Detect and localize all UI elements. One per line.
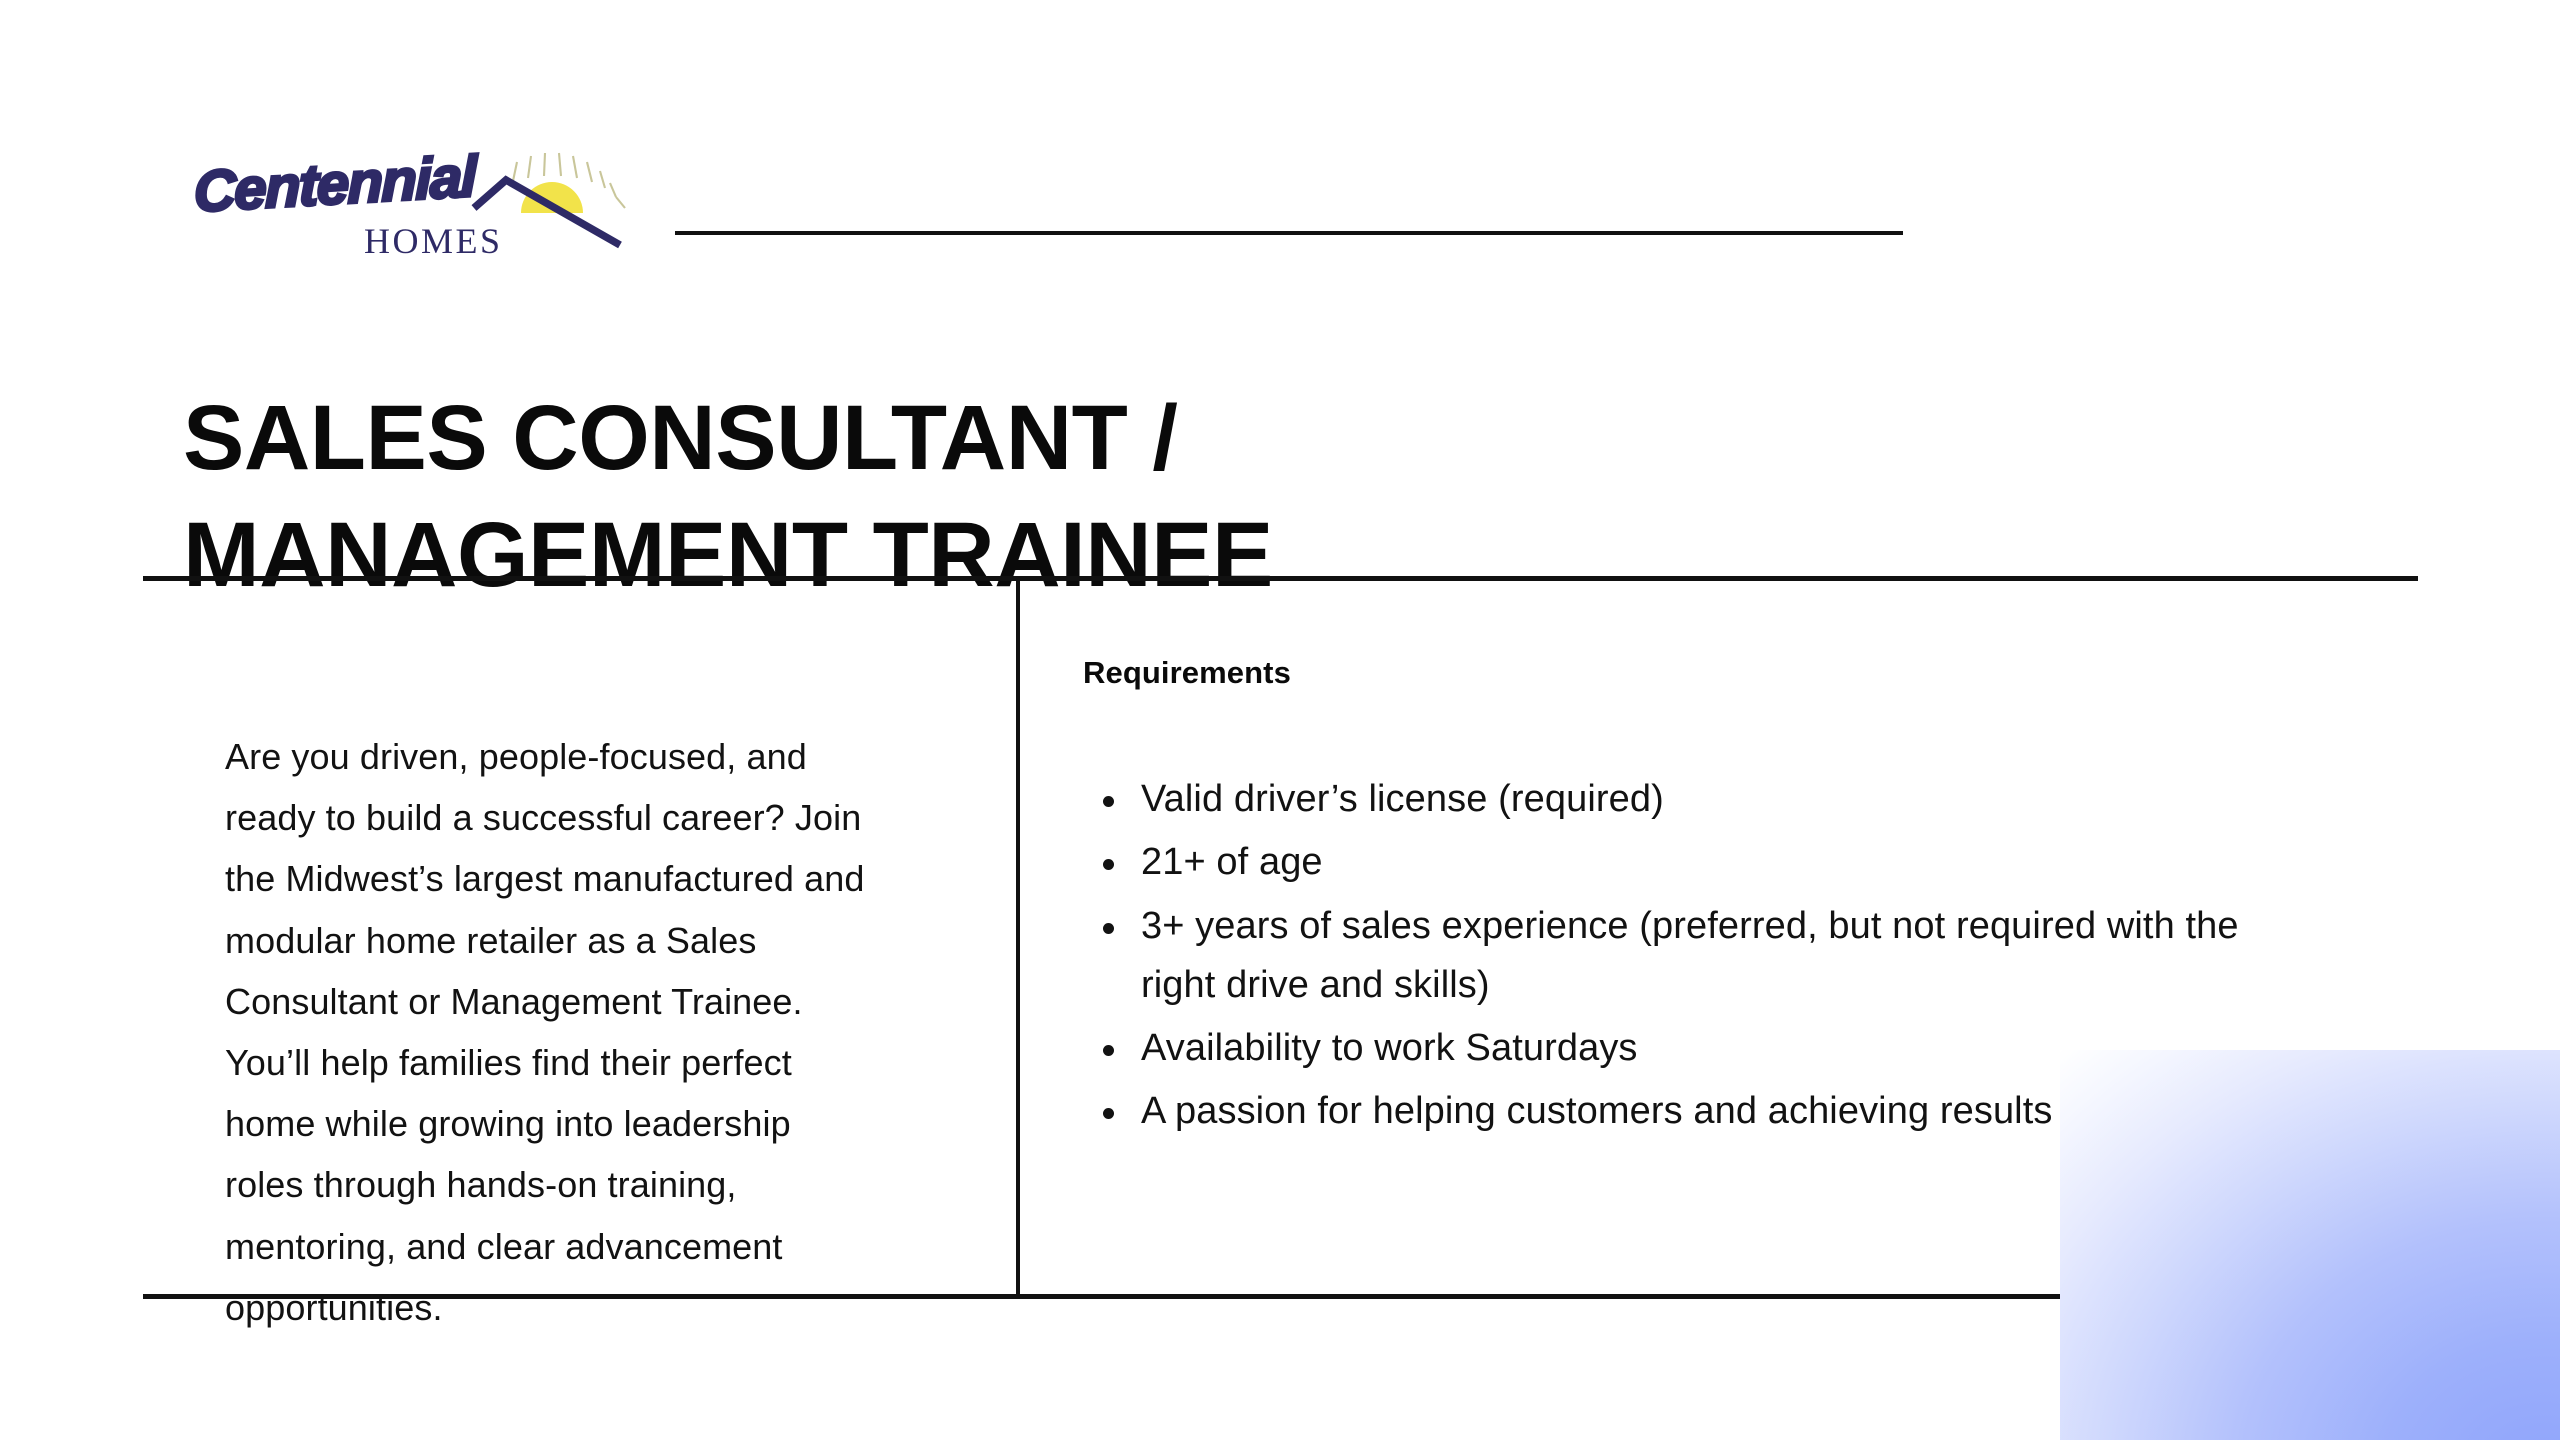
page-title-line-2: MANAGEMENT TRAINEE	[183, 497, 1883, 615]
svg-text:Centennial: Centennial	[194, 150, 479, 225]
content-top-rule	[143, 576, 2418, 581]
list-item: 21+ of age	[1083, 833, 2313, 892]
requirements-list: Valid driver’s license (required) 21+ of…	[1083, 770, 2313, 1146]
page-title-line-1: SALES CONSULTANT /	[183, 380, 1883, 498]
list-item: Valid driver’s license (required)	[1083, 770, 2313, 829]
logo-wordmark: Centennial	[194, 150, 479, 225]
logo-divider-rule	[675, 231, 1903, 235]
slide-canvas: Centennial HOMES SALES CONSULTANT / MANA…	[0, 0, 2560, 1440]
centennial-homes-logo: Centennial HOMES	[188, 150, 658, 260]
requirements-heading: Requirements	[1083, 655, 1291, 691]
intro-paragraph: Are you driven, people-focused, and read…	[225, 726, 865, 1338]
list-item: A passion for helping customers and achi…	[1083, 1082, 2313, 1141]
logo-subwordmark: HOMES	[364, 221, 503, 260]
logo-artwork: Centennial HOMES	[188, 150, 658, 260]
list-item: 3+ years of sales experience (preferred,…	[1083, 897, 2313, 1016]
list-item: Availability to work Saturdays	[1083, 1019, 2313, 1078]
column-divider	[1016, 578, 1020, 1297]
